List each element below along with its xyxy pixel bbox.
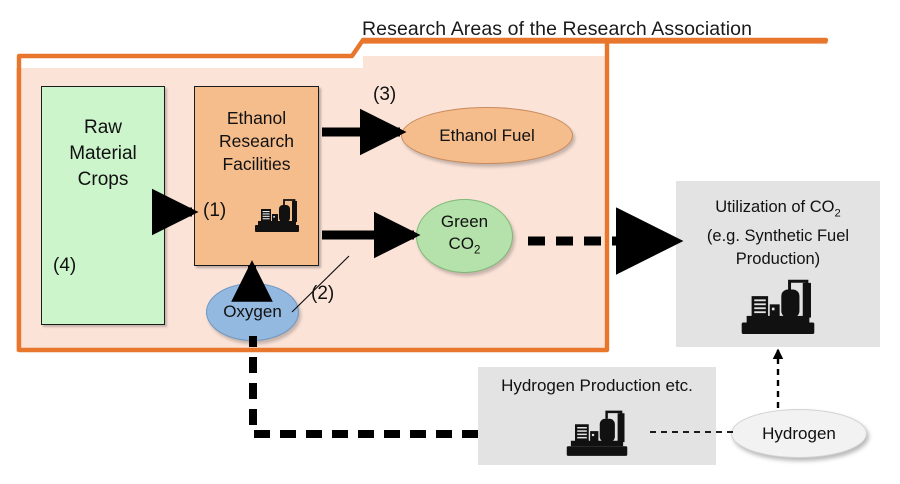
co2-utilization-subscript: 2 [834, 207, 840, 219]
co2-utilization-box[interactable]: Utilization of CO2 (e.g. Synthetic Fuel … [676, 181, 880, 347]
ethanol-research-facilities-box[interactable]: Ethanol Research Facilities (1) [194, 86, 319, 266]
oxygen-label: Oxygen [223, 302, 282, 322]
ethanol-fuel-label: Ethanol Fuel [439, 126, 534, 146]
ethanol-facility-tag: (1) [203, 200, 226, 222]
green-co2-line2-prefix: CO [449, 234, 475, 253]
ethanol-facility-line2: Research [195, 130, 318, 153]
green-co2-line1: Green [441, 212, 488, 231]
raw-material-crops-box[interactable]: Raw Material Crops (4) [41, 86, 165, 325]
factory-plant-icon [253, 195, 301, 235]
green-co2-label: Green CO2 [441, 211, 488, 261]
hydrogen-ellipse[interactable]: Hydrogen [731, 409, 867, 458]
co2-utilization-label: Utilization of CO2 (e.g. Synthetic Fuel … [676, 196, 880, 271]
hydrogen-production-label: Hydrogen Production etc. [478, 376, 716, 396]
green-co2-subscript: 2 [474, 244, 480, 256]
ethanol-fuel-tag: (3) [373, 84, 396, 106]
raw-crops-line3: Crops [42, 167, 164, 193]
raw-material-crops-label: Raw Material Crops [42, 115, 164, 193]
factory-plant-icon [564, 405, 630, 460]
ethanol-facility-line1: Ethanol [195, 107, 318, 130]
raw-crops-tag: (4) [53, 255, 76, 277]
ethanol-facility-label: Ethanol Research Facilities [195, 107, 318, 176]
green-co2-ellipse[interactable]: Green CO2 [416, 199, 513, 273]
diagram-canvas: Research Areas of the Research Associati… [0, 0, 900, 484]
raw-crops-line1: Raw [42, 115, 164, 141]
co2-utilization-line1: Utilization of CO2 [676, 196, 880, 225]
hydrogen-label: Hydrogen [762, 424, 836, 444]
oxygen-ellipse[interactable]: Oxygen [206, 283, 299, 341]
co2-utilization-line3: Production) [676, 248, 880, 271]
ethanol-fuel-ellipse[interactable]: Ethanol Fuel [401, 107, 573, 164]
raw-crops-line2: Material [42, 141, 164, 167]
co2-utilization-line2: (e.g. Synthetic Fuel [676, 225, 880, 248]
hydrogen-production-box[interactable]: Hydrogen Production etc. [478, 367, 716, 465]
ethanol-facility-line3: Facilities [195, 153, 318, 176]
factory-plant-icon [738, 273, 818, 339]
co2-utilization-line1-prefix: Utilization of CO [715, 198, 834, 216]
oxygen-tag: (2) [311, 283, 334, 305]
